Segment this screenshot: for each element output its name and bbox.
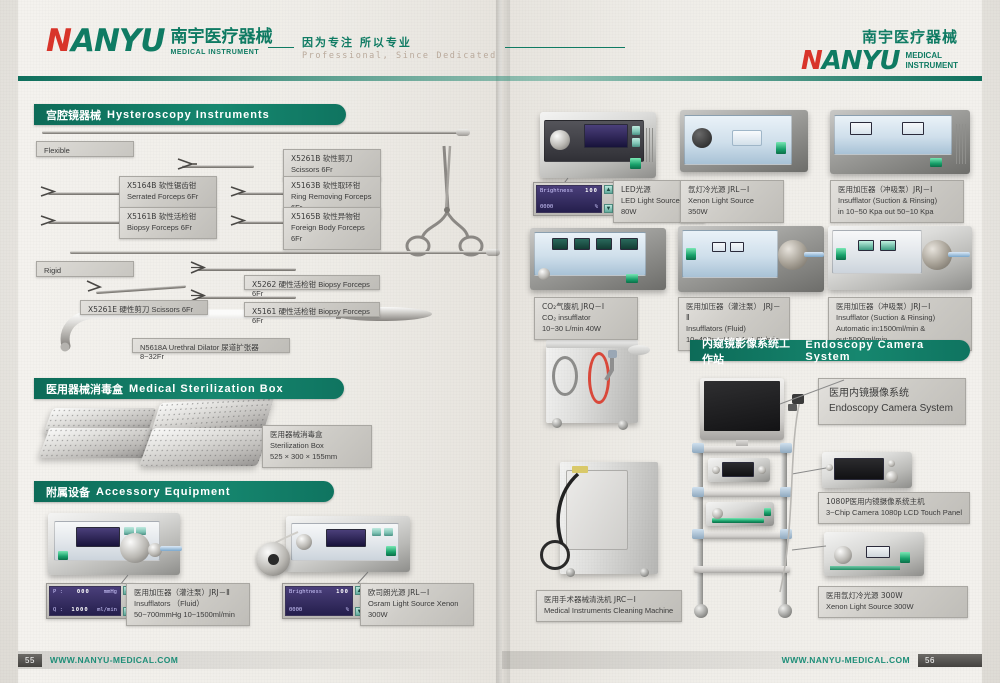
ring-forceps-jaw-icon [230, 183, 250, 201]
accessory-1-spec: 300W [368, 610, 466, 621]
device-led-light-source [540, 112, 656, 178]
lcd0-line1-label: P : [53, 589, 63, 595]
item-2-code: X5163B [291, 181, 320, 190]
slogan-rule-left [268, 47, 294, 49]
rigid-item-label-0: X5262 硬性活检钳 Biopsy Forceps 6Fr [244, 275, 380, 290]
item-0-cn: 软性剪刀 [323, 154, 353, 163]
cleaning-machine-en: Medical Instruments Cleaning Machine [544, 606, 674, 617]
sterilization-box-label: 医用器械消毒盒 Sterilization Box 525 × 300 × 15… [262, 425, 372, 468]
accessory-1-en: Osram Light Source Xenon [368, 599, 466, 610]
rigid-1-cn: 硬性剪刀 [119, 305, 149, 314]
accessory-0-en: Insufflators （Fluid） [134, 599, 242, 610]
brand-right-chinese: 南宇医疗器械 [801, 26, 958, 47]
cabinet-caster-2 [640, 568, 649, 577]
accessory-label-1: 欧司朗光源 JRL－Ⅰ Osram Light Source Xenon 300… [360, 583, 474, 626]
page-number-right: 56 [918, 654, 982, 667]
rigid-item-label-2: X5161 硬性活检钳 Biopsy Forceps 6Fr [244, 302, 380, 317]
section-sterilization-cn: 医用器械消毒盒 [46, 381, 123, 397]
nanyu-right-rest: ANYU [822, 46, 900, 76]
sterilization-box-cn: 医用器械消毒盒 [270, 430, 364, 441]
r2-1-en: Insufflators (Fluid) [686, 324, 782, 335]
slogan-chinese: 因为专注 所以专业 [302, 34, 497, 50]
endoscope-cable [770, 392, 830, 612]
r2-0-en: CO₂ insufflator [542, 313, 630, 324]
item-2-cn: 软性取环钳 [323, 181, 361, 190]
item-label-4: X5165B 软性异物钳 Foreign Body Forceps 6Fr [283, 207, 381, 250]
item-4-cn: 软性异物钳 [323, 212, 361, 221]
xenon-unit-en: Xenon Light Source 300W [826, 602, 960, 613]
xenon-unit-label: 医用氙灯冷光源 300W Xenon Light Source 300W [818, 586, 968, 618]
cleaning-machine-top-panel [546, 340, 638, 348]
trolley-clamp-5 [692, 529, 704, 539]
section-camera-cn: 内窥镜影像系统工作站 [702, 335, 799, 367]
accessory-label-0: 医用加压器（灌注泵）JRJ－Ⅱ Insufflators （Fluid） 50~… [126, 583, 250, 626]
catalog-page: NANYU 南宇医疗器械 MEDICAL INSTRUMENT 因为专注 所以专… [0, 0, 1000, 683]
section-camera-en: Endoscopy Camera System [805, 339, 954, 363]
lcd0-line1-value: 000 [77, 589, 90, 595]
cleaning-machine-label: 医用手术器械清洗机 JRC－Ⅰ Medical Instruments Clea… [536, 590, 682, 622]
camera-unit-cn: 1080P医用内镜摄像系统主机 [826, 497, 962, 508]
r1-2-spec: in 10~50 Kpa out 50~10 Kpa [838, 207, 956, 218]
led-lcd-down-button[interactable]: ▼ [604, 204, 613, 213]
dilator-label: N5618A Urethral Dilator 尿道扩张器 8~32Fr [132, 338, 290, 353]
lcd-light-source-display: Brightness100 0000% ▲ ▼ [282, 583, 367, 619]
r2-0-cn: CO₂气腹机 JRQ－Ⅰ [542, 302, 630, 313]
r2-0-spec: 10~30 L/min 40W [542, 324, 630, 335]
item-1-code: X5164B [127, 181, 156, 190]
r2-1-cn: 医用加压器（灌注泵） JRJ－Ⅱ [686, 302, 782, 324]
device-xenon-300w [824, 532, 924, 576]
brand-logo-right: 南宇医疗器械 NANYU MEDICAL INSTRUMENT [801, 26, 958, 74]
sterilization-box-size: 525 × 300 × 155mm [270, 452, 364, 463]
section-sterilization-en: Medical Sterilization Box [129, 383, 284, 395]
r2-2-en: Insufflator (Suction & Rinsing) [836, 313, 964, 324]
section-hysteroscopy: 宫腔镜器械 Hysteroscopy Instruments [34, 104, 346, 125]
item-label-3: X5161B 软性活检钳 Biopsy Forceps 6Fr [119, 207, 217, 239]
device-xenon-light-source [680, 110, 808, 172]
right-row2-label-0: CO₂气腹机 JRQ－Ⅰ CO₂ insufflator 10~30 L/min… [534, 297, 638, 340]
trolley-clamp-3 [692, 487, 704, 497]
r1-1-cn: 氙灯冷光源 JRL－Ⅰ [688, 185, 776, 196]
item-4-code: X5165B [291, 212, 320, 221]
nanyu-wordmark: NANYU [46, 26, 165, 57]
lcd1-line1-value: 100 [336, 589, 349, 595]
rigid-item-label-1: X5261E 硬性剪刀 Scissors 6Fr [80, 300, 208, 315]
cleaner-caster-2 [618, 420, 628, 430]
nanyu-n-letter: N [46, 23, 71, 59]
device-insufflator-suction-1 [830, 110, 970, 174]
section-sterilization: 医用器械消毒盒 Medical Sterilization Box [34, 378, 344, 399]
r2-2-cn: 医用加压器（冲吸泵）JRJ－Ⅰ [836, 302, 964, 313]
scope-leader-line [778, 376, 848, 410]
camera-unit-en: 3~Chip Camera 1080p LCD Touch Panel [826, 508, 962, 519]
device-osram-light-source [286, 516, 410, 572]
instrument-shaft-rigid-biopsy-1 [198, 268, 296, 271]
led-lcd-label: Brightness [540, 188, 573, 194]
trolley-clamp-1 [692, 443, 704, 453]
sterilization-box-closed [44, 408, 156, 464]
rigid-scope-rod [70, 251, 490, 254]
rigid-biopsy-jaw-1-icon [190, 259, 210, 277]
item-label-1: X5164B 软性锯齿钳 Serrated Forceps 6Fr [119, 176, 217, 208]
r1-1-en: Xenon Light Source [688, 196, 776, 207]
item-0-en: Scissors 6Fr [291, 165, 373, 176]
section-accessory-en: Accessory Equipment [96, 486, 231, 498]
lcd1-line2-label: 0000 [289, 607, 302, 613]
device-camera-1080p [822, 452, 912, 488]
led-lcd-value: 100 [585, 188, 598, 194]
scissors-jaw-icon [176, 155, 198, 173]
slogan-block: 因为专注 所以专业 Professional, Since Dedicated [268, 34, 625, 61]
led-lcd-label2: 0000 [540, 204, 553, 210]
item-3-en: Biopsy Forceps 6Fr [127, 223, 209, 234]
instrument-shaft-rigid-biopsy-2 [198, 296, 296, 299]
accessory-0-cn: 医用加压器（灌注泵）JRJ－Ⅱ [134, 588, 242, 599]
connector-center-icon [268, 554, 279, 565]
item-1-cn: 软性锯齿钳 [159, 181, 197, 190]
item-4-en: Foreign Body Forceps 6Fr [291, 223, 373, 245]
section-camera-system: 内窥镜影像系统工作站 Endoscopy Camera System [690, 340, 970, 361]
section-accessory-cn: 附属设备 [46, 484, 90, 500]
item-3-code: X5161B [127, 212, 156, 221]
accessory-1-cn: 欧司朗光源 JRL－Ⅰ [368, 588, 466, 599]
page-header: NANYU 南宇医疗器械 MEDICAL INSTRUMENT 因为专注 所以专… [18, 20, 982, 76]
trolley-post-left [697, 446, 703, 610]
trolley-light-source-unit [706, 502, 774, 526]
item-1-en: Serrated Forceps 6Fr [127, 192, 209, 203]
r1-1-spec: 350W [688, 207, 776, 218]
foreign-body-jaw-icon [230, 212, 250, 230]
section-hysteroscopy-cn: 宫腔镜器械 [46, 107, 101, 123]
sterilization-box-open [146, 400, 276, 472]
section-hysteroscopy-en: Hysteroscopy Instruments [107, 109, 270, 121]
device-insufflator-fluid [48, 513, 180, 575]
trolley-camera-unit [708, 458, 770, 482]
lcd-insufflator-display: P :000mmHg Q :1000ml/min ▲ ▼ [46, 583, 135, 619]
brand-subtitle: MEDICAL INSTRUMENT [171, 49, 273, 56]
grey-coiled-hose [552, 356, 578, 396]
xenon-unit-cn: 医用氙灯冷光源 300W [826, 591, 960, 602]
divider-rigid: Rigid [36, 261, 134, 277]
lcd0-line1-unit: mmHg [104, 589, 117, 595]
black-hose-path [548, 470, 588, 560]
rigid-0-cn: 硬性活检钳 [279, 280, 317, 289]
rigid-0-code: X5262 [252, 280, 276, 289]
r1-2-en: Insufflator (Suction & Rinsing) [838, 196, 956, 207]
website-url-left[interactable]: WWW.NANYU-MEDICAL.COM [42, 655, 186, 665]
cleaner-caster-1 [552, 418, 562, 428]
footer-left: 55 WWW.NANYU-MEDICAL.COM [18, 651, 186, 669]
led-lcd-up-button[interactable]: ▲ [604, 185, 613, 194]
footer-right: WWW.NANYU-MEDICAL.COM 56 [774, 651, 982, 669]
lcd0-line2-value: 1000 [71, 607, 88, 613]
item-0-code: X5261B [291, 154, 320, 163]
page-number-left: 55 [18, 654, 42, 667]
sterilization-box-en: Sterilization Box [270, 441, 364, 452]
lcd1-line1-label: Brightness [289, 589, 322, 595]
header-divider-bar [18, 76, 982, 81]
brand-right-medical: MEDICAL [906, 51, 958, 61]
spray-gun-icon [600, 348, 634, 388]
rigid-1-en: Scissors 6Fr [151, 305, 193, 314]
slogan-english: Professional, Since Dedicated [302, 51, 497, 61]
rigid-scissors-jaw-icon [86, 278, 106, 296]
accessory-0-spec: 50~700mmHg 10~1500ml/min [134, 610, 242, 621]
rigid-1-code: X5261E [88, 305, 117, 314]
monitor-screen [704, 381, 780, 431]
device-insufflator-fluid-2 [678, 226, 824, 292]
lcd1-line2-unit: % [346, 607, 349, 613]
cabinet-caster-1 [566, 568, 575, 577]
brand-right-instrument: INSTRUMENT [906, 61, 958, 71]
slogan-rule-right [505, 47, 625, 49]
section-accessory: 附属设备 Accessory Equipment [34, 481, 334, 502]
camera-unit-label: 1080P医用内镜摄像系统主机 3~Chip Camera 1080p LCD … [818, 492, 970, 524]
biopsy-jaw-icon [40, 212, 60, 230]
device-insufflator-suction-2 [828, 226, 972, 290]
lcd-led-display: Brightness100 0000% ▲ ▼ [533, 182, 616, 216]
r1-2-cn: 医用加压器（冲吸泵）JRJ－Ⅰ [838, 185, 956, 196]
lcd0-line2-label: Q : [53, 607, 63, 613]
brand-logo-left: NANYU 南宇医疗器械 MEDICAL INSTRUMENT [46, 26, 273, 57]
nanyu-right-n: N [801, 46, 822, 76]
divider-flexible: Flexible [36, 141, 134, 157]
flexible-scope-rod [42, 131, 460, 134]
right-row1-label-2: 医用加压器（冲吸泵）JRJ－Ⅰ Insufflator (Suction & R… [830, 180, 964, 223]
led-lcd-unit2: % [595, 204, 598, 210]
serrated-jaw-icon [40, 183, 60, 201]
right-row1-label-1: 氙灯冷光源 JRL－Ⅰ Xenon Light Source 350W [680, 180, 784, 223]
brand-chinese-name: 南宇医疗器械 [171, 29, 273, 46]
device-co2-insufflator [530, 228, 666, 290]
trolley-caster-left [694, 604, 708, 618]
lcd0-line2-unit: ml/min [97, 607, 117, 613]
website-url-right[interactable]: WWW.NANYU-MEDICAL.COM [774, 655, 918, 665]
cleaning-machine-cn: 医用手术器械清洗机 JRC－Ⅰ [544, 595, 674, 606]
nanyu-rest-letters: ANYU [71, 23, 165, 59]
rigid-2-cn: 硬性活检钳 [279, 307, 317, 316]
item-3-cn: 软性活检钳 [159, 212, 197, 221]
rigid-2-code: X5161 [252, 307, 276, 316]
